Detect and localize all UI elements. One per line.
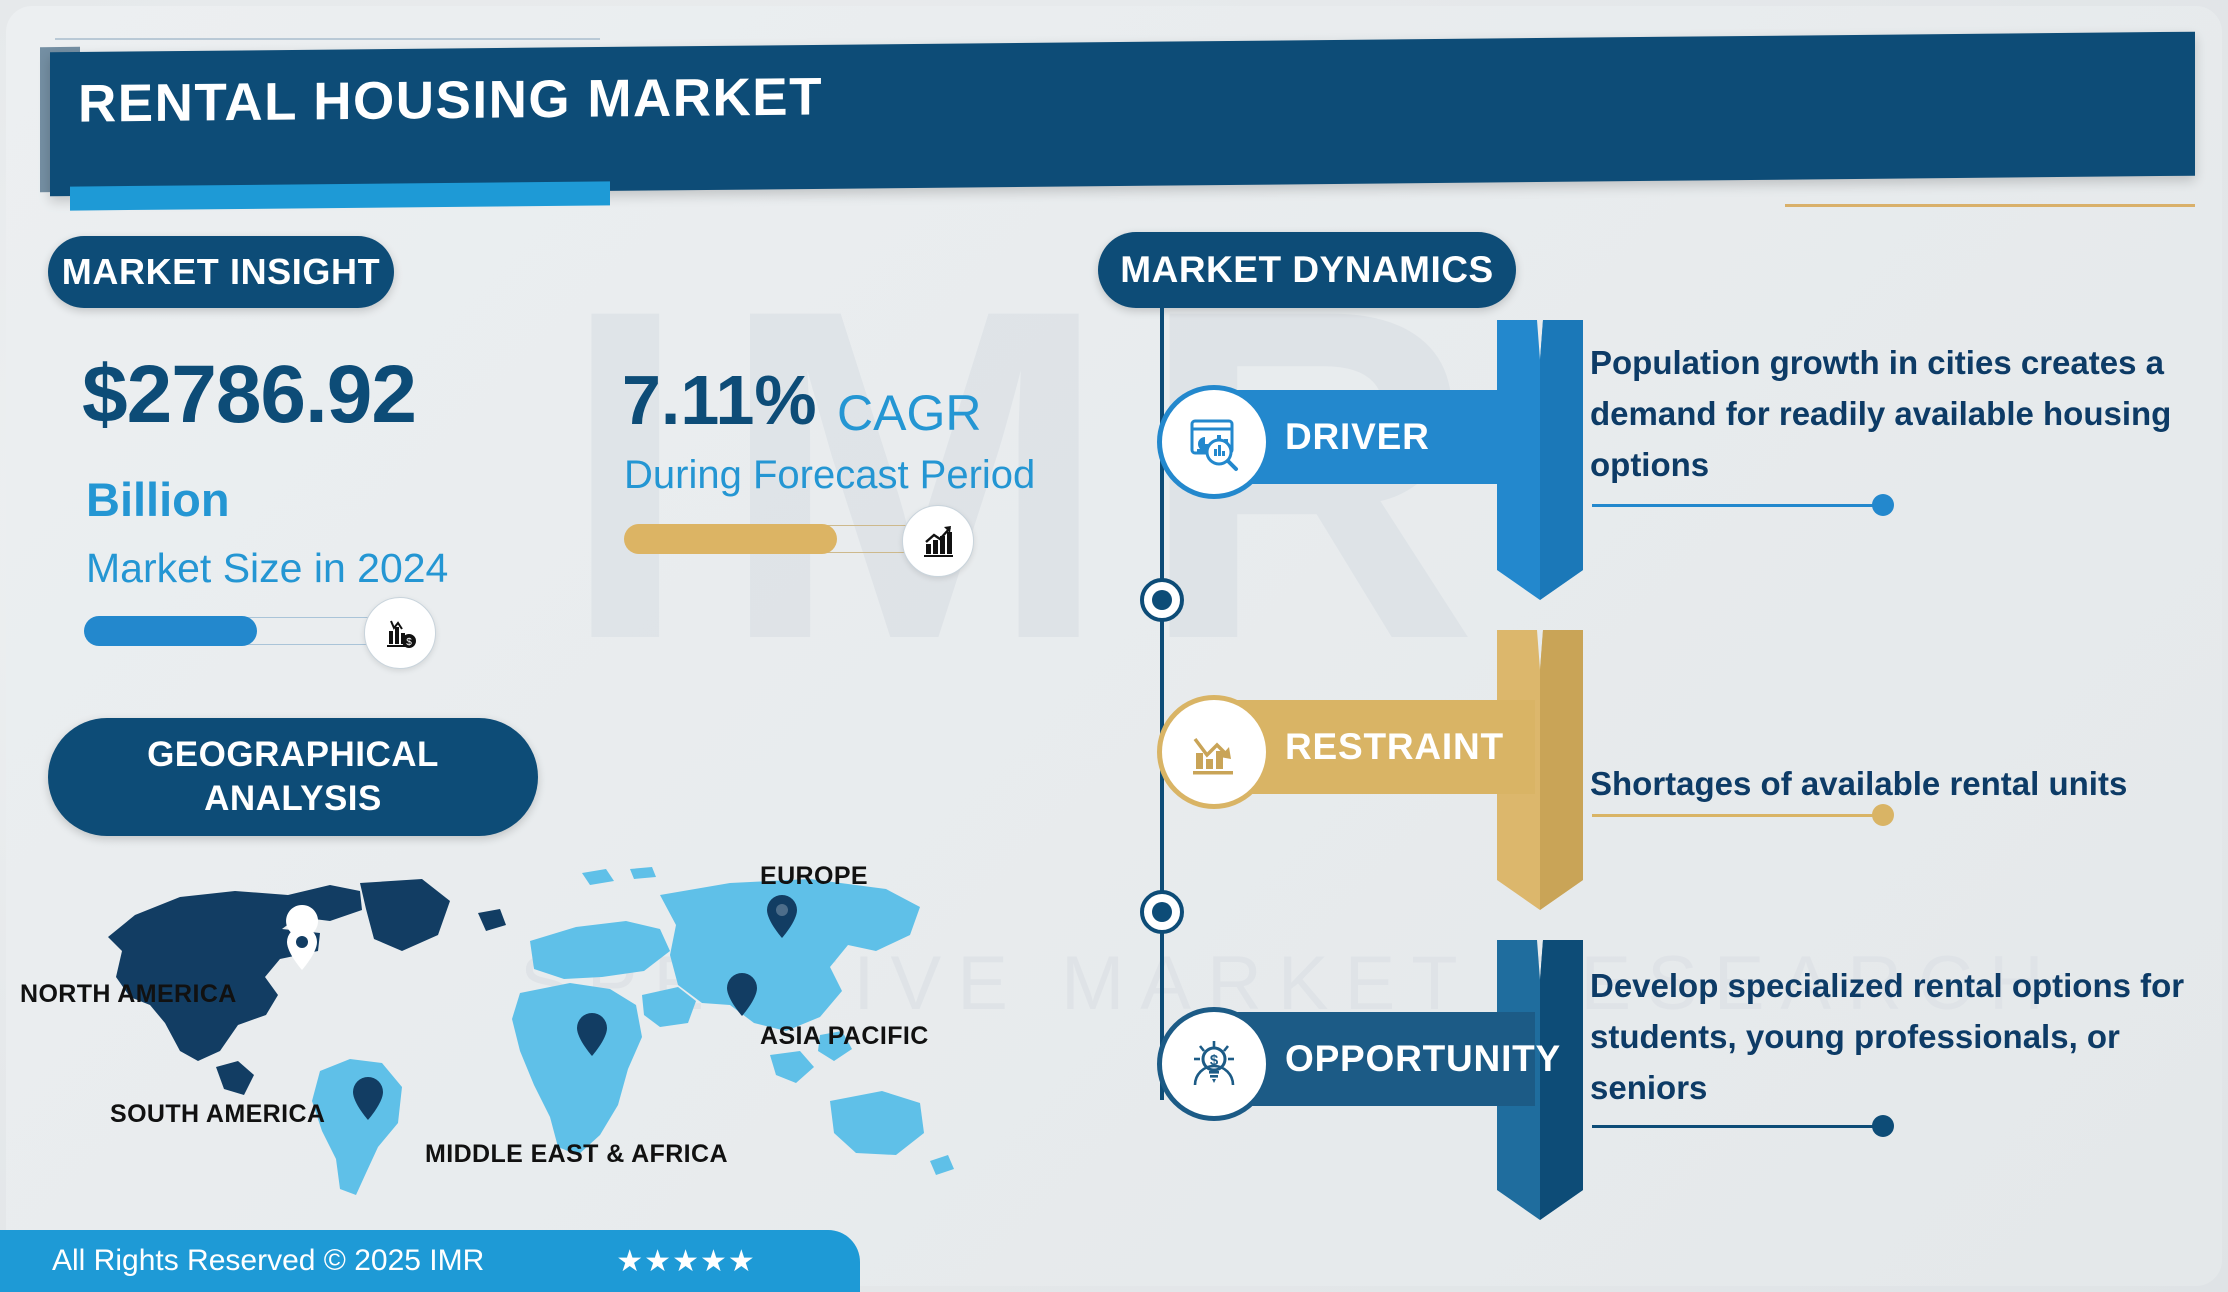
dashboard-magnifier-icon (1157, 385, 1271, 499)
opportunity-bar: $ OPPORTUNITY (1160, 1012, 1535, 1106)
bar-chart-dollar-icon: $ (364, 597, 436, 669)
footer-bar: All Rights Reserved © 2025 IMR ★★★★★ (0, 1230, 860, 1292)
map-label-asia-pacific: ASIA PACIFIC (760, 1022, 929, 1051)
timeline-node-2 (1140, 890, 1184, 934)
market-dynamics-pill: MARKET DYNAMICS (1098, 232, 1516, 308)
opportunity-leader-dot (1872, 1115, 1894, 1137)
cagr-label: CAGR (837, 384, 981, 442)
map-label-south-america: SOUTH AMERICA (110, 1100, 325, 1129)
infographic-page: IMR SPECTIVE MARKET RESEARCH RENTAL HOUS… (0, 0, 2228, 1292)
map-label-europe: EUROPE (760, 862, 868, 891)
opportunity-text: Develop specialized rental options for s… (1590, 960, 2228, 1113)
copyright-text: All Rights Reserved © 2025 IMR (52, 1244, 484, 1278)
restraint-text: Shortages of available rental units (1590, 758, 2228, 809)
market-insight-pill: MARKET INSIGHT (48, 236, 394, 308)
opportunity-label: OPPORTUNITY (1285, 1038, 1561, 1080)
geographical-analysis-pill: GEOGRAPHICAL ANALYSIS (48, 718, 538, 836)
geo-pill-line2: ANALYSIS (204, 779, 382, 818)
market-size-unit: Billion (86, 472, 230, 527)
driver-bar: DRIVER (1160, 390, 1535, 484)
page-title: RENTAL HOUSING MARKET (78, 66, 823, 134)
restraint-leader-dot (1872, 804, 1894, 826)
header-thin-rule (55, 38, 600, 40)
driver-text: Population growth in cities creates a de… (1590, 337, 2228, 490)
market-size-caption: Market Size in 2024 (86, 545, 448, 592)
declining-bar-chart-icon (1157, 695, 1271, 809)
growth-arrow-chart-icon (902, 505, 974, 577)
timeline-node-1 (1140, 578, 1184, 622)
restraint-label: RESTRAINT (1285, 726, 1504, 768)
market-size-progress-fill (84, 616, 257, 646)
driver-label: DRIVER (1285, 416, 1430, 458)
cagr-caption: During Forecast Period (624, 453, 1035, 498)
driver-leader-line (1592, 504, 1882, 507)
svg-text:$: $ (406, 637, 412, 648)
cagr-value: 7.11% (622, 360, 817, 440)
restraint-bar: RESTRAINT (1160, 700, 1535, 794)
market-size-value: $2786.92 (82, 348, 416, 442)
map-label-middle-east-africa: MIDDLE EAST & AFRICA (425, 1140, 728, 1169)
rating-stars: ★★★★★ (616, 1244, 755, 1279)
restraint-leader-line (1592, 814, 1882, 817)
cagr-progress-fill (624, 524, 837, 554)
opportunity-leader-line (1592, 1125, 1882, 1128)
driver-leader-dot (1872, 494, 1894, 516)
geo-pill-line1: GEOGRAPHICAL (147, 735, 439, 774)
lightbulb-dollar-icon: $ (1157, 1007, 1271, 1121)
map-label-north-america: NORTH AMERICA (20, 980, 237, 1009)
header-gold-rule (1785, 204, 2195, 207)
